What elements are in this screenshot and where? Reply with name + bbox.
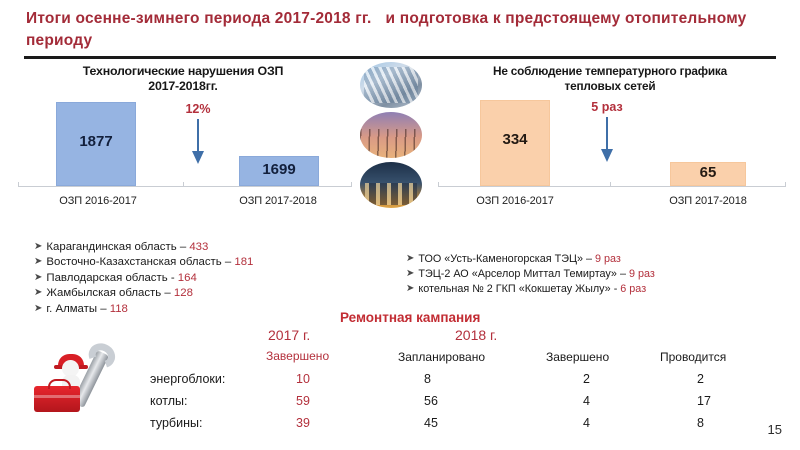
list-item-value: 9 раз: [595, 253, 621, 265]
list-item-label: Восточно-Казахстанская область: [46, 256, 221, 268]
list-item-label: Павлодарская область: [46, 272, 167, 284]
list-item-label: ТОО «Усть-Каменогорская ТЭЦ»: [418, 253, 583, 265]
bar-temp-2017-2018[interactable]: 65: [670, 162, 746, 186]
list-item-dash: –: [180, 241, 186, 253]
list-item-dash: –: [164, 287, 170, 299]
cell-planned-boilers: 56: [424, 394, 438, 408]
table-row-label-energoblocks: энергоблоки:: [150, 372, 225, 386]
column-header-completed-2018: Завершено: [546, 350, 609, 364]
bar-ozp-2017-2018[interactable]: 1699: [239, 156, 319, 186]
repair-year-2018: 2018 г.: [455, 327, 497, 343]
list-item-value: 164: [178, 272, 197, 284]
bar-value-1877: 1877: [57, 133, 135, 150]
chevron-bullet-icon: ➤: [34, 254, 42, 269]
bar-ozp-2016-2017[interactable]: 1877: [56, 102, 136, 186]
photo-power-plant-dusk: [360, 162, 422, 208]
cell-in-progress-energoblocks: 2: [697, 372, 704, 386]
chart-right-title: Не соблюдение температурного графика теп…: [428, 64, 792, 93]
chart-left-title-line1: Технологические нарушения ОЗП: [8, 64, 358, 79]
cell-in-progress-boilers: 17: [697, 394, 711, 408]
list-item-label: котельная № 2 ГКП «Кокшетау Жылу»: [418, 283, 610, 295]
photo-strip: [360, 62, 422, 212]
list-item-dash: –: [586, 253, 592, 265]
list-item-dash: –: [225, 256, 231, 268]
cell-completed-turbines: 4: [583, 416, 590, 430]
chevron-bullet-icon: ➤: [34, 301, 42, 316]
page-title: Итоги осенне-зимнего периода 2017-2018 г…: [26, 8, 778, 52]
chart-temp-schedule: Не соблюдение температурного графика теп…: [428, 64, 792, 219]
chart-left-category-2: ОЗП 2017-2018: [203, 195, 353, 207]
annotation-5-times: 5 раз: [568, 100, 646, 163]
list-item-dash: -: [171, 272, 175, 284]
list-item-label: ТЭЦ-2 АО «Арселор Миттал Темиртау»: [418, 268, 617, 280]
list-item-value: 128: [174, 287, 193, 299]
cell-2017-completed-turbines: 39: [296, 416, 310, 430]
chart-right-axis-tick-mid: [610, 182, 611, 187]
cell-completed-boilers: 4: [583, 394, 590, 408]
list-item-value: 433: [189, 241, 208, 253]
down-arrow-icon: [568, 117, 646, 163]
annotation-12-percent: 12%: [163, 102, 233, 165]
slide-root: Итоги осенне-зимнего периода 2017-2018 г…: [0, 0, 800, 450]
column-header-planned: Запланировано: [398, 350, 485, 364]
chevron-bullet-icon: ➤: [406, 251, 414, 266]
cell-planned-turbines: 45: [424, 416, 438, 430]
chart-left-axis-tick-mid: [183, 182, 184, 187]
cell-2017-completed-energoblocks: 10: [296, 372, 310, 386]
temp-violators-list: ➤ТОО «Усть-Каменогорская ТЭЦ» – 9 раз ➤Т…: [406, 252, 655, 297]
chevron-bullet-icon: ➤: [34, 239, 42, 254]
list-item: ➤ТОО «Усть-Каменогорская ТЭЦ» – 9 раз: [406, 252, 655, 267]
repair-year-2017: 2017 г.: [268, 327, 310, 343]
list-item: ➤Жамбылская область – 128: [34, 286, 253, 301]
column-header-in-progress: Проводится: [660, 350, 726, 364]
list-item: ➤г. Алматы – 118: [34, 302, 253, 317]
down-arrow-icon: [163, 119, 233, 165]
chart-left-axis: [18, 186, 352, 187]
list-item-label: г. Алматы: [46, 303, 97, 315]
cell-planned-energoblocks: 8: [424, 372, 431, 386]
list-item-value: 181: [234, 256, 253, 268]
list-item-dash: –: [620, 268, 626, 280]
cell-in-progress-turbines: 8: [697, 416, 704, 430]
list-item-label: Жамбылская область: [46, 287, 161, 299]
toolbox-icon: [34, 386, 80, 412]
photo-power-lines-sunset: [360, 112, 422, 158]
repair-worker-icon: [26, 348, 144, 420]
bar-temp-2016-2017[interactable]: 334: [480, 100, 550, 186]
chevron-bullet-icon: ➤: [34, 285, 42, 300]
bar-value-65: 65: [671, 164, 745, 181]
list-item-dash: –: [100, 303, 106, 315]
list-item: ➤Восточно-Казахстанская область – 181: [34, 255, 253, 270]
list-item-value: 9 раз: [629, 268, 655, 280]
chart-left-title-line2: 2017-2018гг.: [8, 79, 358, 94]
chart-right-title-line1: Не соблюдение температурного графика: [428, 64, 792, 79]
chart-right-plot: 334 5 раз 65 ОЗП 2016-2017 ОЗП 2017-2018: [428, 104, 792, 209]
chevron-bullet-icon: ➤: [406, 281, 414, 296]
page-title-part1: Итоги осенне-зимнего периода 2017-2018 г…: [26, 10, 372, 27]
chart-left-title: Технологические нарушения ОЗП 2017-2018г…: [8, 64, 358, 93]
list-item: ➤Карагандинская область – 433: [34, 240, 253, 255]
bar-value-1699: 1699: [240, 161, 318, 178]
list-item-value: 6 раз: [620, 283, 646, 295]
column-header-completed-2017: Завершено: [266, 349, 329, 363]
table-row-label-boilers: котлы:: [150, 394, 188, 408]
chart-right-category-2: ОЗП 2017-2018: [633, 195, 783, 207]
chart-left-plot: 1877 12% 1699 ОЗП 2016-2017 ОЗП 2017-201…: [8, 104, 358, 209]
list-item: ➤ТЭЦ-2 АО «Арселор Миттал Темиртау» – 9 …: [406, 267, 655, 282]
chart-right-title-line2: тепловых сетей: [428, 79, 792, 94]
annotation-label: 12%: [163, 102, 233, 116]
header-divider: [24, 56, 776, 59]
violations-by-region-list: ➤Карагандинская область – 433 ➤Восточно-…: [34, 240, 253, 317]
annotation-label: 5 раз: [568, 100, 646, 114]
list-item-label: Карагандинская область: [46, 241, 176, 253]
list-item: ➤котельная № 2 ГКП «Кокшетау Жылу» - 6 р…: [406, 282, 655, 297]
chart-tech-violations: Технологические нарушения ОЗП 2017-2018г…: [8, 64, 358, 219]
list-item-value: 118: [110, 303, 128, 315]
list-item: ➤Павлодарская область - 164: [34, 271, 253, 286]
chart-right-category-1: ОЗП 2016-2017: [444, 195, 586, 207]
table-row-label-turbines: турбины:: [150, 416, 202, 430]
chart-left-category-1: ОЗП 2016-2017: [28, 195, 168, 207]
cell-completed-energoblocks: 2: [583, 372, 590, 386]
list-item-dash: -: [614, 283, 618, 295]
photo-industrial-pipes: [360, 62, 422, 108]
repair-campaign-title: Ремонтная кампания: [340, 310, 480, 325]
cell-2017-completed-boilers: 59: [296, 394, 310, 408]
chevron-bullet-icon: ➤: [34, 270, 42, 285]
bar-value-334: 334: [481, 131, 549, 148]
chevron-bullet-icon: ➤: [406, 266, 414, 281]
page-number: 15: [768, 422, 782, 437]
chart-right-axis: [438, 186, 786, 187]
